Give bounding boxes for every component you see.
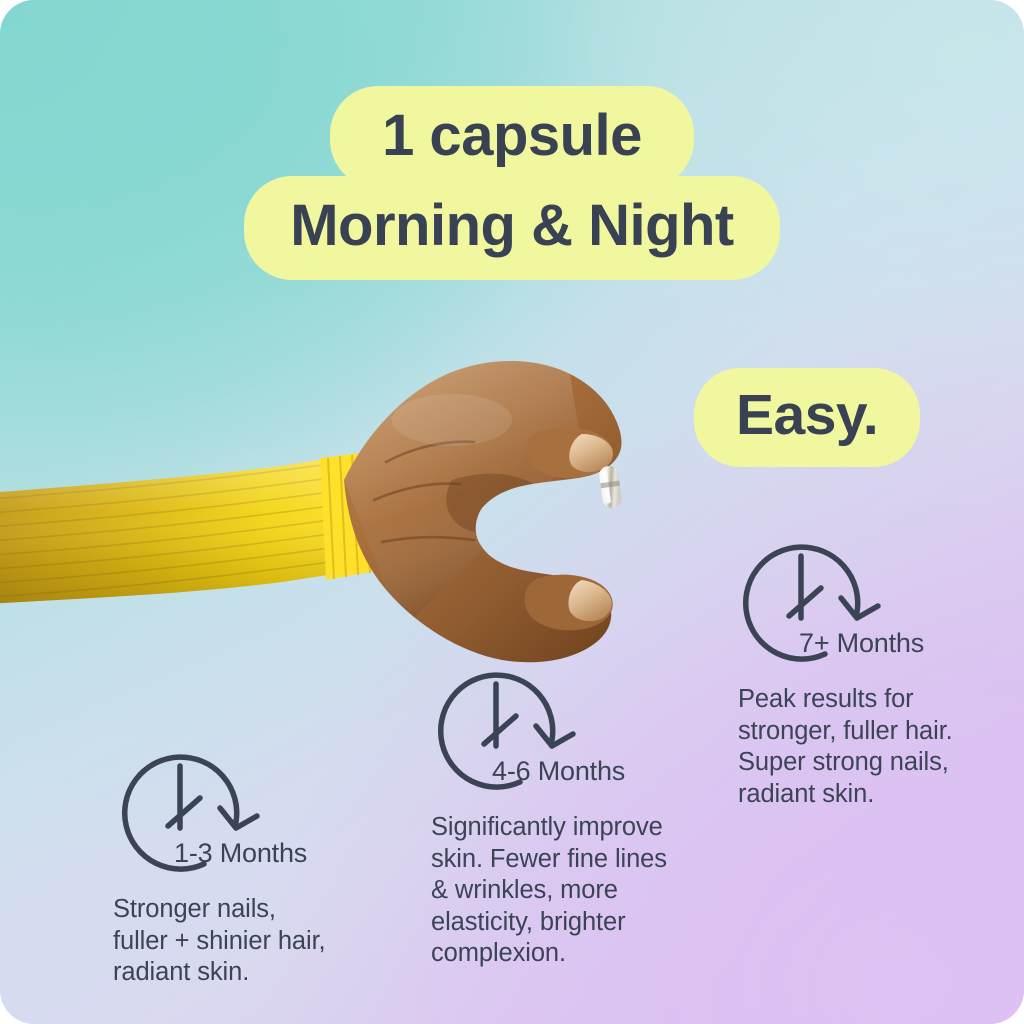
headline-group: 1 capsule Morning & Night xyxy=(0,86,1024,280)
milestone-1-body: Stronger nails, fuller + shinier hair, r… xyxy=(113,894,413,989)
milestone-1-label: 1-3 Months xyxy=(174,838,307,869)
yellow-knit-sleeve xyxy=(0,450,392,606)
promo-graphic-canvas: 1 capsule Morning & Night Easy. xyxy=(0,0,1024,1024)
milestone-2-body: Significantly improve skin. Fewer fine l… xyxy=(431,812,731,970)
milestone-2: 4-6 Months Significantly improve skin. F… xyxy=(428,660,728,960)
headline-line-2: Morning & Night xyxy=(244,176,780,280)
supplement-capsule xyxy=(598,465,623,509)
headline-line-1: 1 capsule xyxy=(330,86,694,188)
milestone-2-label: 4-6 Months xyxy=(492,756,625,787)
milestone-1: 1-3 Months Stronger nails, fuller + shin… xyxy=(112,742,412,1002)
easy-badge: Easy. xyxy=(694,368,920,467)
milestone-3-label: 7+ Months xyxy=(799,628,924,659)
milestone-3-body: Peak results for stronger, fuller hair. … xyxy=(738,684,1024,810)
hand xyxy=(344,361,621,662)
thumb-fingernail xyxy=(568,580,611,621)
milestone-3: 7+ Months Peak results for stronger, ful… xyxy=(733,532,1024,832)
